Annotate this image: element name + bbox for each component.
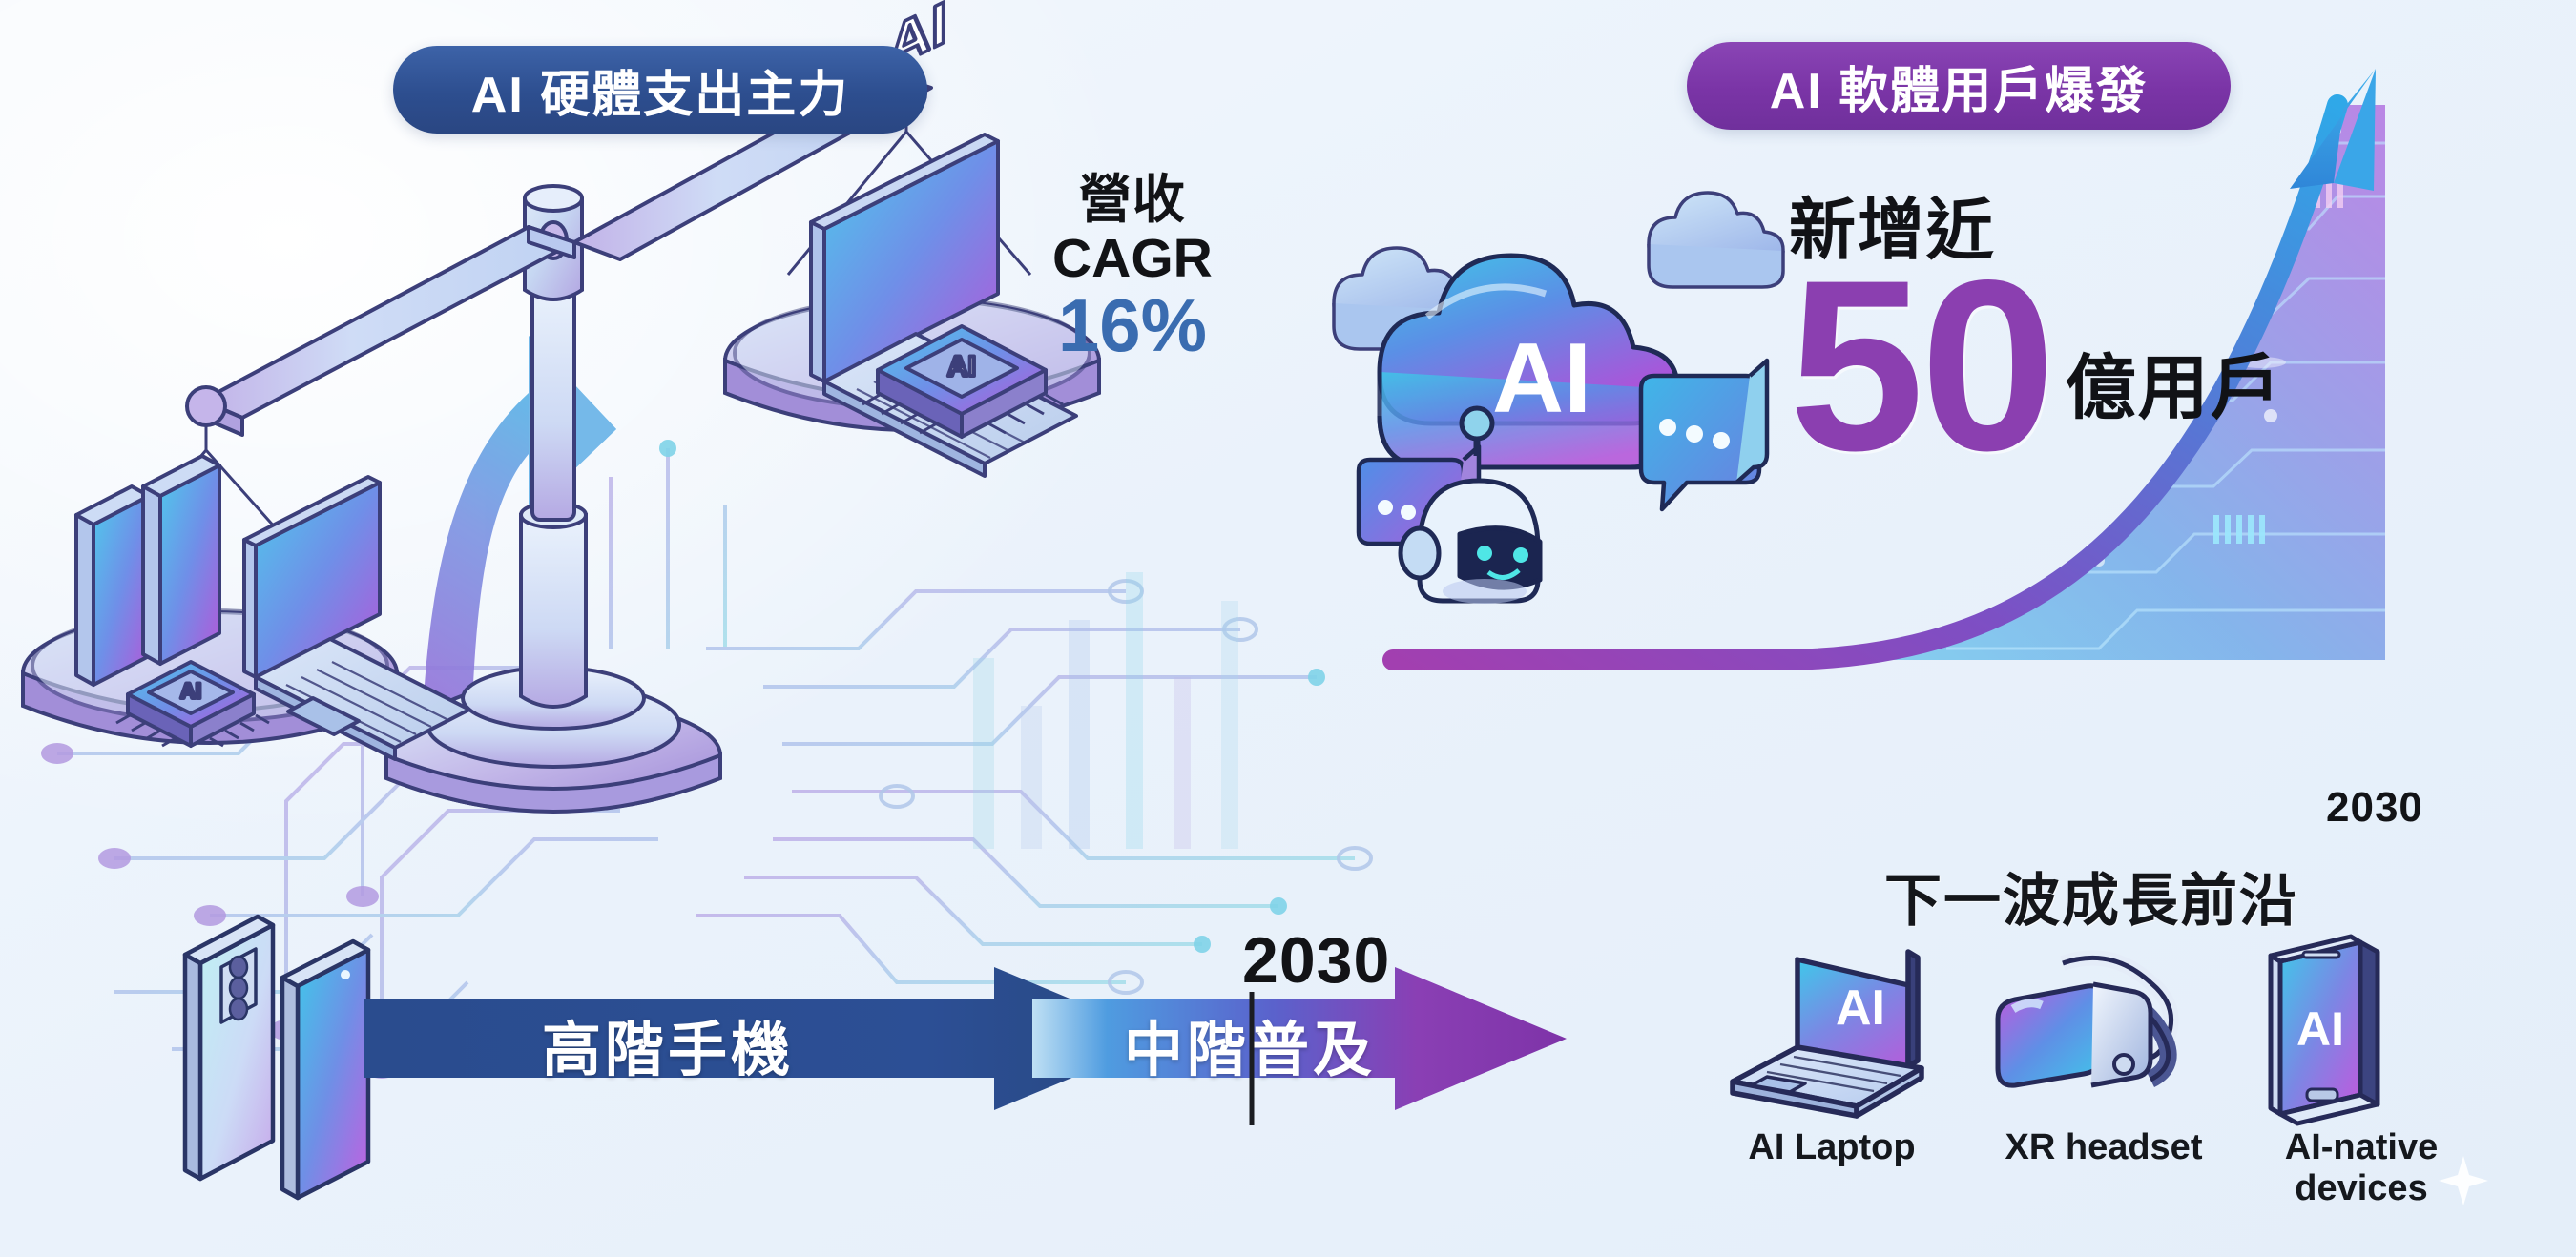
curve-year-label: 2030 — [2326, 784, 2423, 832]
svg-text:AI: AI — [2296, 1002, 2344, 1056]
new-users-headline: 新增近 50 億用戶 — [1789, 176, 2283, 473]
svg-text:AI: AI — [1836, 980, 1885, 1036]
scale-beam — [187, 227, 574, 435]
timeline-year-tick — [1248, 992, 1256, 1125]
new-users-number: 50 — [1789, 259, 2052, 473]
xr-headset-icon — [1975, 944, 2204, 1116]
balance-scale-illustration: AI AI — [143, 114, 1126, 906]
svg-text:AI: AI — [180, 679, 201, 703]
device-label-xr-headset: XR headset — [1965, 1127, 2242, 1168]
device-label-ai-laptop: AI Laptop — [1698, 1127, 1965, 1168]
revenue-cagr-metric: 營收 CAGR 16% — [1052, 174, 1213, 362]
phone-back-icon — [185, 917, 273, 1179]
ai-native-phone-icon: AI — [2248, 938, 2420, 1125]
scale-base — [386, 281, 720, 812]
left-pan-phone-2 — [143, 456, 219, 664]
curve-arrowhead-icon — [2290, 69, 2376, 191]
phone-front-icon — [282, 941, 368, 1198]
next-frontier-heading: 下一波成長前沿 — [1884, 855, 2298, 938]
cagr-value: 16% — [1052, 288, 1213, 362]
svg-text:AI: AI — [947, 351, 976, 382]
cagr-label-line2: CAGR — [1052, 232, 1213, 286]
timeline-segment-1-label: 高階手機 — [477, 1001, 859, 1087]
badge-software-users: AI 軟體用戶爆發 — [1687, 42, 2231, 130]
infographic-canvas: AI AI — [0, 0, 2576, 1257]
ai-laptop-icon: AI — [1706, 942, 1983, 1119]
cagr-label-line1: 營收 — [1052, 174, 1213, 226]
timeline-year-label: 2030 — [1242, 923, 1390, 998]
sparkle-icon — [2435, 1152, 2492, 1209]
new-users-unit: 億用戶 — [2066, 331, 2283, 433]
left-pan-phone-1 — [76, 486, 149, 685]
badge-hardware-spend: AI 硬體支出主力 — [393, 46, 927, 134]
